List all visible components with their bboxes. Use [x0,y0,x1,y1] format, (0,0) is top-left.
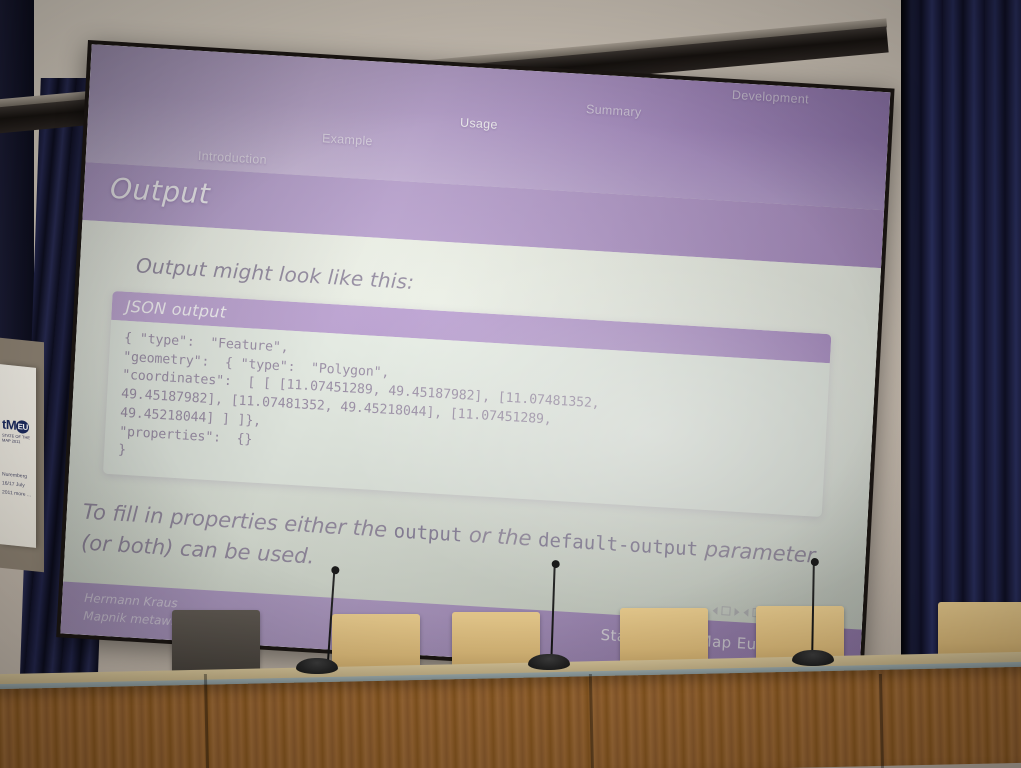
nav-item-summary[interactable]: Summary [586,102,642,119]
microphone-3-base [792,650,834,666]
nav-item-development[interactable]: Development [732,88,810,107]
projection-surface: Introduction Example Usage Summary Devel… [60,44,890,681]
nav-slide-icon[interactable] [721,606,730,616]
nav-prev-slide-icon[interactable] [712,606,717,614]
nav-prev-frame-icon[interactable] [743,608,748,616]
poster-lines: Nuremberg 16/17 July 2011 more ... [2,470,36,501]
paragraph-part-2: or the [462,522,539,551]
sotm-logo: tMEU [2,416,29,434]
curtain-right [901,0,1021,700]
paragraph-code-output: output [393,520,463,546]
poster-subtitle: STATE OF THE MAP 2011 [2,432,36,446]
projector-screen: Introduction Example Usage Summary Devel… [56,40,894,686]
podium-area [0,618,1021,768]
curtain-far-left [0,0,34,360]
nav-item-introduction[interactable]: Introduction [198,149,268,167]
microphone-2-base [528,654,570,670]
sotm-logo-text: tM [2,416,16,432]
sotm-poster: tMEU STATE OF THE MAP 2011 Nuremberg 16/… [0,364,36,548]
presentation-slide: Introduction Example Usage Summary Devel… [60,44,890,681]
lecture-hall-photo: tMEU STATE OF THE MAP 2011 Nuremberg 16/… [0,0,1021,768]
slide-title: Output [109,172,211,211]
paragraph-code-default-output: default-output [538,529,699,561]
microphone-1-base [296,658,338,674]
nav-item-usage[interactable]: Usage [460,116,498,132]
nav-next-slide-icon[interactable] [734,607,739,615]
sotm-logo-badge: EU [16,420,29,434]
nav-item-example[interactable]: Example [322,131,373,148]
